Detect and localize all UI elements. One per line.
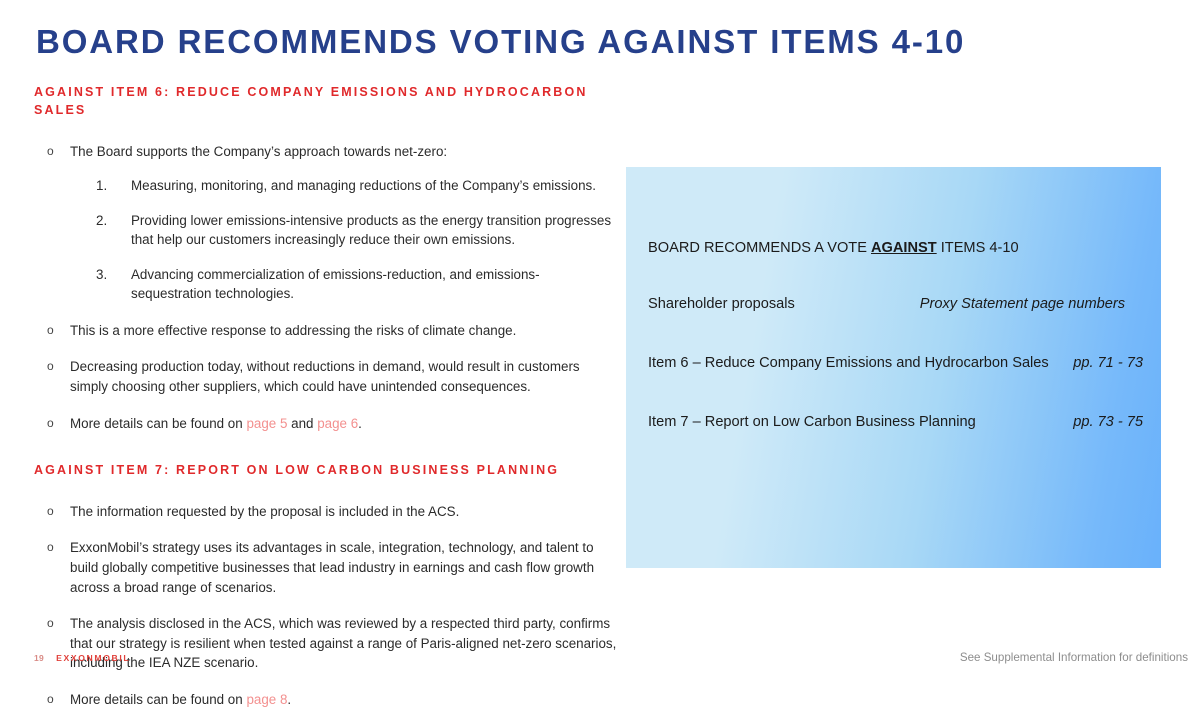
list-item-more-details-6: More details can be found on page 5 and … (34, 414, 619, 434)
list-item: ExxonMobil’s strategy uses its advantage… (34, 538, 619, 597)
more-details-prefix: More details can be found on (70, 692, 246, 707)
slide-canvas: BOARD RECOMMENDS VOTING AGAINST ITEMS 4-… (0, 0, 1200, 675)
recommendation-panel-content: BOARD RECOMMENDS A VOTE AGAINST ITEMS 4-… (648, 239, 1143, 432)
footer-left: 19 EXXONMOBIL (34, 653, 130, 663)
panel-title-emphasis: AGAINST (871, 240, 937, 256)
section-heading-item-7: AGAINST ITEM 7: REPORT ON LOW CARBON BUS… (34, 462, 619, 480)
list-item: 1. Measuring, monitoring, and managing r… (96, 176, 619, 196)
list-item-text: Advancing commercialization of emissions… (131, 267, 540, 302)
panel-column-headers: Shareholder proposals Proxy Statement pa… (648, 295, 1143, 314)
list-item-text: Providing lower emissions-intensive prod… (131, 213, 611, 248)
page-link-5[interactable]: page 5 (246, 416, 287, 431)
bullet-text: ExxonMobil’s strategy uses its advantage… (70, 540, 594, 594)
more-details-middle: and (287, 416, 317, 431)
page-link-6[interactable]: page 6 (317, 416, 358, 431)
more-details-prefix: More details can be found on (70, 416, 246, 431)
list-marker: 3. (96, 265, 118, 285)
page-link-8[interactable]: page 8 (246, 692, 287, 707)
panel-row-pages: pp. 71 - 73 (1073, 354, 1143, 373)
bullet-list-item-7: The information requested by the proposa… (34, 502, 619, 709)
more-details-suffix: . (358, 416, 362, 431)
left-content-column: AGAINST ITEM 6: REDUCE COMPANY EMISSIONS… (34, 84, 619, 709)
section-heading-item-6: AGAINST ITEM 6: REDUCE COMPANY EMISSIONS… (34, 84, 619, 120)
list-item: This is a more effective response to add… (34, 321, 619, 341)
numbered-list: 1. Measuring, monitoring, and managing r… (96, 176, 619, 304)
panel-column-header-left: Shareholder proposals (648, 295, 795, 314)
footer-note: See Supplemental Information for definit… (960, 651, 1188, 664)
list-item-more-details-7: More details can be found on page 8. (34, 690, 619, 709)
list-item: The Board supports the Company’s approac… (34, 142, 619, 304)
recommendation-panel: BOARD RECOMMENDS A VOTE AGAINST ITEMS 4-… (626, 167, 1161, 568)
bullet-text: This is a more effective response to add… (70, 323, 516, 338)
page-title: BOARD RECOMMENDS VOTING AGAINST ITEMS 4-… (36, 24, 965, 60)
bullet-text: The analysis disclosed in the ACS, which… (70, 616, 616, 670)
list-item: The information requested by the proposa… (34, 502, 619, 522)
more-details-suffix: . (287, 692, 291, 707)
panel-title-before: BOARD RECOMMENDS A VOTE (648, 240, 871, 256)
panel-row-label: Item 6 – Reduce Company Emissions and Hy… (648, 354, 1049, 373)
panel-column-header-right: Proxy Statement page numbers (920, 295, 1143, 314)
bullet-list-item-6: The Board supports the Company’s approac… (34, 142, 619, 434)
panel-row-label: Item 7 – Report on Low Carbon Business P… (648, 413, 976, 432)
list-item: The analysis disclosed in the ACS, which… (34, 614, 619, 673)
list-item: 3. Advancing commercialization of emissi… (96, 265, 619, 304)
panel-row-item-6: Item 6 – Reduce Company Emissions and Hy… (648, 354, 1143, 373)
footer-page-number: 19 (34, 653, 44, 663)
bullet-text: The information requested by the proposa… (70, 504, 459, 519)
list-marker: 2. (96, 211, 118, 231)
list-marker: 1. (96, 176, 118, 196)
bullet-text: The Board supports the Company’s approac… (70, 144, 447, 159)
recommendation-panel-title: BOARD RECOMMENDS A VOTE AGAINST ITEMS 4-… (648, 239, 1143, 258)
panel-row-item-7: Item 7 – Report on Low Carbon Business P… (648, 413, 1143, 432)
footer-brand-logo: EXXONMOBIL (56, 653, 130, 663)
list-item-text: Measuring, monitoring, and managing redu… (131, 178, 596, 193)
numbered-sublist-wrapper: 1. Measuring, monitoring, and managing r… (70, 176, 619, 304)
panel-title-after: ITEMS 4-10 (937, 240, 1019, 256)
panel-row-pages: pp. 73 - 75 (1073, 413, 1143, 432)
list-item: Decreasing production today, without red… (34, 357, 619, 396)
bullet-text: Decreasing production today, without red… (70, 359, 580, 394)
list-item: 2. Providing lower emissions-intensive p… (96, 211, 619, 250)
